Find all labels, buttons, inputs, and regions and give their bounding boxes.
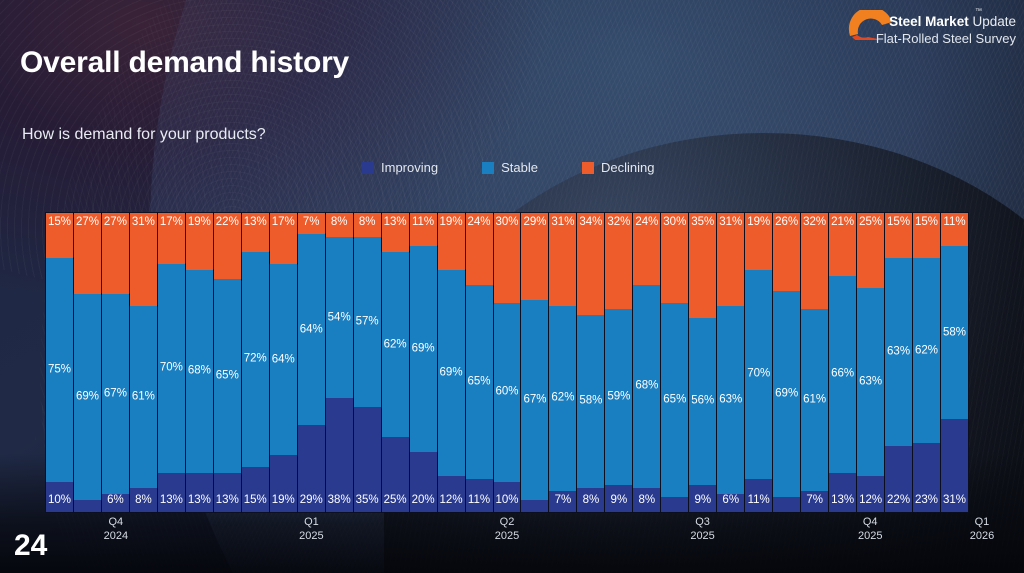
bar-segment-stable: 70%: [158, 264, 185, 473]
bar-segment-improving: 38%: [326, 398, 353, 512]
bar-segment-improving: 23%: [913, 443, 940, 512]
bar-value-label: 35%: [691, 217, 714, 229]
chart-bar[interactable]: 34%58%8%: [577, 213, 604, 512]
bar-value-label: 30%: [663, 217, 686, 229]
bar-segment-improving: 7%: [801, 491, 828, 512]
bar-segment-declining: 15%: [46, 213, 73, 258]
bar-value-label: 7%: [806, 495, 823, 507]
x-axis-quarter-label: Q4: [108, 516, 123, 528]
x-axis-year-label: 2025: [299, 530, 323, 544]
bar-value-label: 61%: [132, 391, 155, 403]
bar-segment-declining: 32%: [801, 213, 828, 309]
bar-value-label: 38%: [328, 495, 351, 507]
bar-value-label: 19%: [747, 217, 770, 229]
bar-segment-declining: 7%: [298, 213, 325, 234]
bar-segment-stable: 69%: [773, 291, 800, 497]
bar-value-label: 70%: [160, 363, 183, 375]
page-title: Overall demand history: [20, 46, 349, 80]
bar-segment-declining: 30%: [494, 213, 521, 303]
x-axis-quarter-label: Q3: [695, 516, 710, 528]
bar-segment-improving: 11%: [466, 479, 493, 512]
bar-value-label: 31%: [719, 217, 742, 229]
x-axis-tick: Q12026: [970, 516, 994, 544]
bar-value-label: 7%: [555, 495, 572, 507]
bar-segment-declining: 11%: [941, 213, 968, 246]
chart-bar[interactable]: 31%61%8%: [130, 213, 157, 512]
bar-value-label: 65%: [663, 394, 686, 406]
bar-value-label: 13%: [384, 217, 407, 229]
bar-segment-stable: 69%: [74, 294, 101, 500]
bar-value-label: 13%: [216, 495, 239, 507]
bar-segment-stable: 58%: [941, 246, 968, 419]
bar-value-label: 10%: [495, 495, 518, 507]
bar-value-label: 15%: [915, 217, 938, 229]
bar-segment-stable: 62%: [549, 306, 576, 491]
chart-bar[interactable]: 32%59%9%: [605, 213, 632, 512]
chart-bar[interactable]: 8%57%35%: [354, 213, 381, 512]
bar-segment-declining: 31%: [549, 213, 576, 306]
bar-segment-stable: 64%: [298, 234, 325, 425]
x-axis-quarter-label: Q4: [863, 516, 878, 528]
bar-segment-stable: 67%: [102, 294, 129, 494]
x-axis-tick: Q32025: [690, 516, 714, 544]
page-number: 24: [14, 529, 47, 563]
bar-value-label: 67%: [523, 394, 546, 406]
bar-value-label: 62%: [551, 393, 574, 405]
bar-value-label: 11%: [468, 495, 490, 507]
bar-value-label: 6%: [107, 495, 124, 507]
bar-segment-declining: 17%: [270, 213, 297, 264]
bar-segment-declining: 24%: [466, 213, 493, 285]
bar-segment-stable: 69%: [410, 246, 437, 452]
bar-segment-stable: 59%: [605, 309, 632, 485]
bar-segment-improving: 13%: [214, 473, 241, 512]
bar-segment-declining: 13%: [382, 213, 409, 252]
bar-segment-improving: 8%: [633, 488, 660, 512]
page-subtitle: How is demand for your products?: [22, 126, 266, 144]
bar-segment-improving: 4%: [74, 500, 101, 512]
chart-bar[interactable]: 21%66%13%: [829, 213, 856, 512]
bar-value-label: 64%: [272, 354, 295, 366]
bar-segment-improving: 12%: [857, 476, 884, 512]
bar-value-label: 72%: [244, 354, 267, 366]
bar-value-label: 24%: [468, 217, 491, 229]
bar-value-label: 32%: [607, 217, 630, 229]
bar-value-label: 15%: [48, 217, 71, 229]
bar-segment-declining: 15%: [885, 213, 912, 258]
bar-segment-declining: 26%: [773, 213, 800, 291]
legend-item-stable[interactable]: Stable: [482, 160, 538, 175]
chart-bar[interactable]: 26%69%5%: [773, 213, 800, 512]
x-axis-year-label: 2026: [970, 530, 994, 544]
bar-segment-declining: 19%: [186, 213, 213, 270]
bar-segment-stable: 70%: [745, 270, 772, 479]
bar-value-label: 54%: [328, 312, 351, 324]
x-axis-year-label: 2025: [858, 530, 882, 544]
legend-label: Improving: [381, 160, 438, 175]
chart-bar[interactable]: 27%69%4%: [74, 213, 101, 512]
x-axis-year-label: 2025: [690, 530, 714, 544]
chart-bar[interactable]: 11%58%31%: [941, 213, 968, 512]
bar-segment-declining: 24%: [633, 213, 660, 285]
bar-segment-declining: 35%: [689, 213, 716, 318]
x-axis-tick: Q12025: [299, 516, 323, 544]
legend-swatch-icon: [582, 162, 594, 174]
x-axis-quarter-label: Q1: [304, 516, 319, 528]
legend-item-declining[interactable]: Declining: [582, 160, 654, 175]
bar-value-label: 8%: [135, 495, 152, 507]
bar-value-label: 13%: [244, 217, 267, 229]
chart-bar[interactable]: 30%65%5%: [661, 213, 688, 512]
bar-value-label: 63%: [887, 346, 910, 358]
bar-segment-declining: 19%: [438, 213, 465, 270]
chart-bar[interactable]: 30%60%10%: [494, 213, 521, 512]
x-axis-year-label: 2025: [495, 530, 519, 544]
bar-value-label: 24%: [635, 217, 658, 229]
legend-label: Stable: [501, 160, 538, 175]
bar-value-label: 31%: [551, 217, 574, 229]
bar-value-label: 61%: [803, 394, 826, 406]
chart-x-axis: Q42024Q12025Q22025Q32025Q42025Q12026: [46, 516, 968, 556]
bar-segment-improving: 9%: [605, 485, 632, 512]
bar-segment-declining: 27%: [74, 213, 101, 294]
chart-bar[interactable]: 32%61%7%: [801, 213, 828, 512]
bar-segment-improving: 6%: [102, 494, 129, 512]
bar-value-label: 68%: [188, 366, 211, 378]
bar-value-label: 21%: [831, 217, 854, 229]
chart-bar[interactable]: 19%68%13%: [186, 213, 213, 512]
bar-segment-improving: 6%: [717, 494, 744, 512]
bar-segment-stable: 61%: [130, 306, 157, 488]
bar-value-label: 59%: [607, 391, 630, 403]
bar-value-label: 31%: [943, 495, 966, 507]
bar-segment-declining: 19%: [745, 213, 772, 270]
bar-value-label: 17%: [160, 217, 183, 229]
bar-segment-improving: 5%: [773, 497, 800, 512]
bar-value-label: 8%: [639, 495, 656, 507]
bar-segment-improving: 29%: [298, 425, 325, 512]
logo-brand-bold: Steel Market: [889, 14, 969, 29]
bar-value-label: 31%: [132, 217, 155, 229]
bar-segment-stable: 58%: [577, 315, 604, 488]
bar-value-label: 11%: [943, 217, 965, 229]
chart-bar[interactable]: 24%65%11%: [466, 213, 493, 512]
bar-segment-declining: 30%: [661, 213, 688, 303]
legend-swatch-icon: [482, 162, 494, 174]
bar-value-label: 25%: [384, 495, 407, 507]
bar-value-label: 35%: [356, 495, 379, 507]
bar-value-label: 13%: [831, 495, 854, 507]
bar-value-label: 69%: [775, 388, 798, 400]
bar-value-label: 13%: [188, 495, 211, 507]
bar-segment-declining: 8%: [354, 213, 381, 237]
stacked-bar-chart: 15%75%10%27%69%4%27%67%6%31%61%8%17%70%1…: [46, 213, 968, 512]
x-axis-tick: Q42024: [104, 516, 128, 544]
bar-value-label: 27%: [104, 217, 127, 229]
logo-tagline: Flat-Rolled Steel Survey: [876, 31, 1016, 46]
bar-segment-stable: 62%: [913, 258, 940, 443]
bar-value-label: 66%: [831, 369, 854, 381]
bar-segment-stable: 61%: [801, 309, 828, 491]
chart-bar[interactable]: 15%62%23%: [913, 213, 940, 512]
bar-segment-improving: 19%: [270, 455, 297, 512]
bar-value-label: 29%: [523, 217, 546, 229]
bar-value-label: 62%: [384, 339, 407, 351]
bar-value-label: 20%: [412, 495, 435, 507]
bar-segment-improving: 31%: [941, 419, 968, 512]
logo-brand-light: Update: [969, 14, 1016, 29]
bar-segment-declining: 32%: [605, 213, 632, 309]
logo-brand-line: Steel Market Update: [889, 14, 1016, 29]
bar-segment-improving: 4%: [521, 500, 548, 512]
bar-value-label: 19%: [440, 217, 463, 229]
bar-segment-stable: 62%: [382, 252, 409, 437]
bar-value-label: 58%: [943, 327, 966, 339]
bar-segment-declining: 22%: [214, 213, 241, 279]
chart-bar[interactable]: 13%72%15%: [242, 213, 269, 512]
x-axis-tick: Q22025: [495, 516, 519, 544]
chart-legend: ImprovingStableDeclining: [362, 160, 654, 175]
x-axis-tick: Q42025: [858, 516, 882, 544]
bar-value-label: 8%: [359, 217, 376, 229]
legend-item-improving[interactable]: Improving: [362, 160, 438, 175]
bar-segment-declining: 11%: [410, 213, 437, 246]
bar-segment-improving: 25%: [382, 437, 409, 512]
chart-bar[interactable]: 7%64%29%: [298, 213, 325, 512]
bar-segment-stable: 63%: [885, 258, 912, 446]
bar-segment-stable: 65%: [466, 285, 493, 479]
bar-value-label: 10%: [48, 495, 71, 507]
bar-value-label: 9%: [694, 495, 711, 507]
legend-label: Declining: [601, 160, 654, 175]
bar-value-label: 22%: [216, 217, 239, 229]
bar-value-label: 34%: [579, 217, 602, 229]
bar-segment-stable: 72%: [242, 252, 269, 467]
bar-segment-stable: 68%: [186, 270, 213, 473]
bar-segment-improving: 8%: [130, 488, 157, 512]
bar-segment-stable: 57%: [354, 237, 381, 407]
bar-segment-improving: 22%: [885, 446, 912, 512]
bar-value-label: 63%: [859, 376, 882, 388]
bar-value-label: 15%: [244, 495, 267, 507]
bar-value-label: 12%: [440, 495, 463, 507]
bar-segment-stable: 75%: [46, 258, 73, 482]
bar-segment-improving: 10%: [494, 482, 521, 512]
x-axis-quarter-label: Q2: [500, 516, 515, 528]
bar-value-label: 69%: [76, 391, 99, 403]
chart-bar[interactable]: 17%70%13%: [158, 213, 185, 512]
bar-segment-improving: 35%: [354, 407, 381, 512]
legend-swatch-icon: [362, 162, 374, 174]
bar-value-label: 26%: [775, 217, 798, 229]
brand-logo: ™ Steel Market Update Flat-Rolled Steel …: [816, 6, 1016, 48]
bar-value-label: 69%: [412, 343, 435, 355]
chart-bar[interactable]: 29%67%4%: [521, 213, 548, 512]
bar-segment-declining: 31%: [717, 213, 744, 306]
bar-segment-improving: 13%: [186, 473, 213, 512]
chart-bar[interactable]: 22%65%13%: [214, 213, 241, 512]
bar-segment-stable: 66%: [829, 276, 856, 473]
bar-segment-stable: 65%: [214, 279, 241, 473]
chart-bar[interactable]: 31%62%7%: [549, 213, 576, 512]
bar-value-label: 65%: [468, 376, 491, 388]
bar-value-label: 7%: [303, 217, 320, 229]
bar-value-label: 23%: [915, 495, 938, 507]
bar-value-label: 15%: [887, 217, 910, 229]
bar-value-label: 9%: [611, 495, 628, 507]
bar-value-label: 57%: [356, 316, 379, 328]
chart-bar[interactable]: 27%67%6%: [102, 213, 129, 512]
bar-segment-stable: 65%: [661, 303, 688, 497]
bar-value-label: 63%: [719, 394, 742, 406]
bar-value-label: 27%: [76, 217, 99, 229]
bar-segment-declining: 31%: [130, 213, 157, 306]
chart-bar[interactable]: 11%69%20%: [410, 213, 437, 512]
bar-segment-declining: 27%: [102, 213, 129, 294]
bar-segment-improving: 8%: [577, 488, 604, 512]
bar-value-label: 6%: [722, 495, 739, 507]
bar-segment-stable: 56%: [689, 318, 716, 485]
bar-segment-declining: 21%: [829, 213, 856, 276]
bar-value-label: 69%: [440, 367, 463, 379]
chart-bar[interactable]: 19%69%12%: [438, 213, 465, 512]
bar-segment-declining: 17%: [158, 213, 185, 264]
bar-value-label: 8%: [331, 217, 348, 229]
bar-value-label: 65%: [216, 370, 239, 382]
bar-value-label: 68%: [635, 381, 658, 393]
bar-value-label: 58%: [579, 396, 602, 408]
bar-value-label: 11%: [748, 495, 770, 507]
chart-bar[interactable]: 19%70%11%: [745, 213, 772, 512]
bar-value-label: 64%: [300, 324, 323, 336]
chart-bar[interactable]: 24%68%8%: [633, 213, 660, 512]
bar-value-label: 25%: [859, 217, 882, 229]
bar-segment-improving: 7%: [549, 491, 576, 512]
bar-segment-improving: 13%: [158, 473, 185, 512]
x-axis-quarter-label: Q1: [975, 516, 990, 528]
chart-bar[interactable]: 17%64%19%: [270, 213, 297, 512]
bar-value-label: 67%: [104, 388, 127, 400]
bar-value-label: 8%: [583, 495, 600, 507]
bar-value-label: 29%: [300, 495, 323, 507]
bar-value-label: 17%: [272, 217, 295, 229]
bar-segment-improving: 15%: [242, 467, 269, 512]
chart-bar[interactable]: 13%62%25%: [382, 213, 409, 512]
bar-segment-stable: 68%: [633, 285, 660, 488]
bar-value-label: 22%: [887, 495, 910, 507]
bar-segment-improving: 20%: [410, 452, 437, 512]
bar-segment-declining: 15%: [913, 213, 940, 258]
bar-segment-declining: 8%: [326, 213, 353, 237]
bar-segment-declining: 29%: [521, 213, 548, 300]
bar-value-label: 19%: [272, 495, 295, 507]
chart-bar[interactable]: 31%63%6%: [717, 213, 744, 512]
bar-segment-stable: 67%: [521, 300, 548, 500]
bar-value-label: 30%: [495, 217, 518, 229]
bar-value-label: 11%: [412, 217, 434, 229]
bar-segment-stable: 63%: [717, 306, 744, 494]
bar-value-label: 19%: [188, 217, 211, 229]
bar-segment-stable: 54%: [326, 237, 353, 398]
bar-value-label: 13%: [160, 495, 183, 507]
bar-segment-stable: 60%: [494, 303, 521, 482]
bar-segment-stable: 63%: [857, 288, 884, 476]
chart-bar[interactable]: 25%63%12%: [857, 213, 884, 512]
chart-bar[interactable]: 8%54%38%: [326, 213, 353, 512]
bar-segment-improving: 13%: [829, 473, 856, 512]
bar-value-label: 62%: [915, 345, 938, 357]
chart-bar[interactable]: 15%75%10%: [46, 213, 73, 512]
bar-segment-stable: 69%: [438, 270, 465, 476]
bar-value-label: 70%: [747, 369, 770, 381]
bar-value-label: 12%: [859, 495, 882, 507]
bar-segment-improving: 12%: [438, 476, 465, 512]
bar-segment-improving: 9%: [689, 485, 716, 512]
bar-segment-stable: 64%: [270, 264, 297, 455]
bar-value-label: 75%: [48, 364, 71, 376]
bar-segment-improving: 11%: [745, 479, 772, 512]
bar-segment-declining: 13%: [242, 213, 269, 252]
chart-bar[interactable]: 35%56%9%: [689, 213, 716, 512]
chart-bar[interactable]: 15%63%22%: [885, 213, 912, 512]
bar-segment-declining: 34%: [577, 213, 604, 315]
bar-value-label: 60%: [495, 387, 518, 399]
bar-segment-improving: 10%: [46, 482, 73, 512]
bar-value-label: 32%: [803, 217, 826, 229]
bar-segment-improving: 5%: [661, 497, 688, 512]
bar-value-label: 56%: [691, 396, 714, 408]
x-axis-year-label: 2024: [104, 530, 128, 544]
bar-segment-declining: 25%: [857, 213, 884, 288]
